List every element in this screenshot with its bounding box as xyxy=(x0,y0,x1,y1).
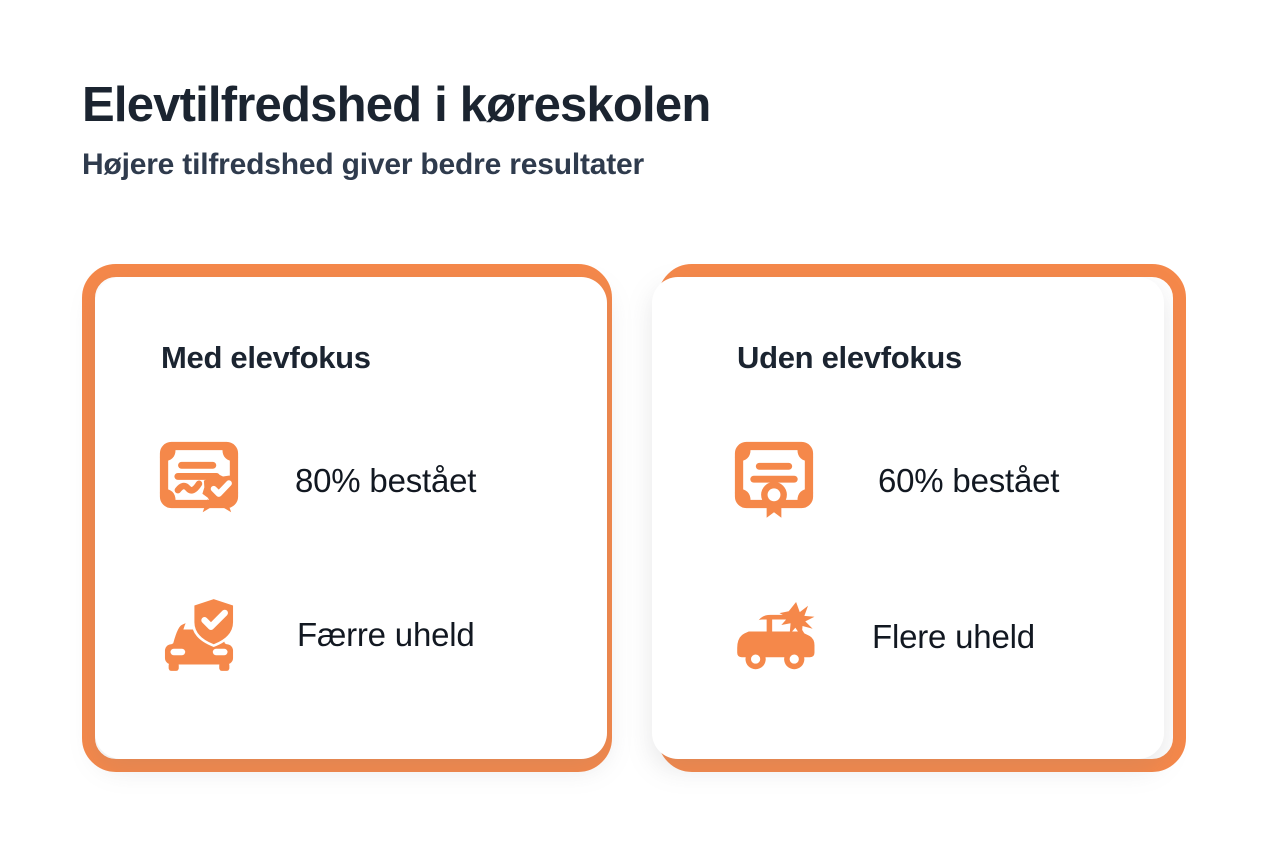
card-title: Med elevfokus xyxy=(161,340,371,376)
card-panel: Med elevfokus xyxy=(95,277,607,759)
car-shield-icon xyxy=(153,589,245,681)
card-panel: Uden elevfokus xyxy=(652,277,1164,759)
card-uden-elevfokus: Uden elevfokus xyxy=(658,264,1186,772)
infographic-page: Elevtilfredshed i køreskolen Højere tilf… xyxy=(0,0,1264,848)
car-crash-icon xyxy=(728,591,820,683)
certificate-award-icon xyxy=(153,435,245,527)
page-title: Elevtilfredshed i køreskolen xyxy=(82,78,1182,133)
stat-label: 60% bestået xyxy=(878,462,1059,500)
header: Elevtilfredshed i køreskolen Højere tilf… xyxy=(82,78,1182,183)
card-title: Uden elevfokus xyxy=(737,340,962,376)
stat-row: 60% bestået xyxy=(728,435,1059,527)
stat-row: 80% bestået xyxy=(153,435,476,527)
certificate-seal-icon xyxy=(728,435,820,527)
stat-row: Flere uheld xyxy=(728,591,1035,683)
card-med-elevfokus: Med elevfokus xyxy=(82,264,612,772)
stat-row: Færre uheld xyxy=(153,589,475,681)
page-subtitle: Højere tilfredshed giver bedre resultate… xyxy=(82,147,1182,183)
stat-label: Flere uheld xyxy=(872,618,1035,656)
stat-label: Færre uheld xyxy=(297,616,475,654)
stat-label: 80% bestået xyxy=(295,462,476,500)
